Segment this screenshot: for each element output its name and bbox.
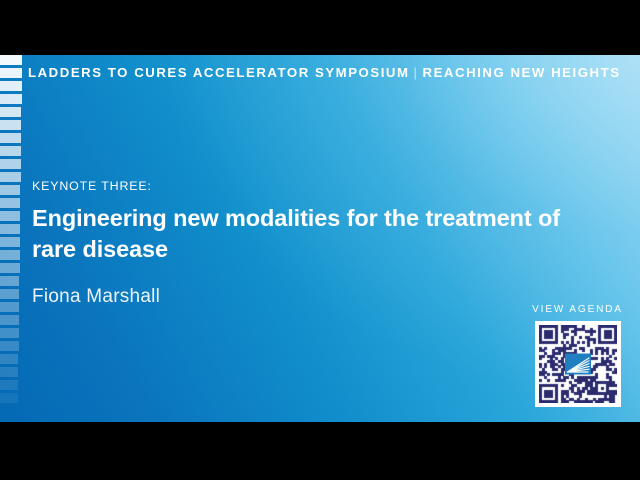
ladder-rung [0,315,19,325]
ladder-rung [0,237,20,247]
ladder-rung [0,94,22,104]
ladder-rung [0,393,18,403]
talk-title: Engineering new modalities for the treat… [32,203,562,264]
ladder-rung [0,367,18,377]
ladder-rung [0,289,19,299]
ladder-rung [0,354,18,364]
letterbox-top [0,0,640,55]
header-divider: | [410,65,423,80]
slide-header-band: LADDERS TO CURES ACCELERATOR SYMPOSIUM|R… [0,55,640,91]
ladder-rung [0,159,21,169]
ladder-rung [0,211,20,221]
ladder-rung [0,263,20,273]
ladder-rung [0,133,21,143]
view-agenda-qr-block[interactable]: VIEW AGENDA [532,305,623,407]
view-agenda-label: VIEW AGENDA [532,305,623,315]
novartis-fan-logo-icon [565,354,591,375]
speaker-name: Fiona Marshall [32,287,572,306]
keynote-eyebrow: KEYNOTE THREE: [32,180,572,192]
qr-code[interactable] [535,321,621,407]
ladder-rungs-decoration [0,55,26,422]
letterbox-bottom [0,422,640,480]
ladder-rung [0,276,19,286]
ladder-rung [0,380,18,390]
ladder-rung [0,185,20,195]
ladder-rung [0,172,21,182]
ladder-rung [0,107,21,117]
presentation-slide: LADDERS TO CURES ACCELERATOR SYMPOSIUM|R… [0,55,640,422]
ladder-rung [0,146,21,156]
ladder-rung [0,198,20,208]
event-title: LADDERS TO CURES ACCELERATOR SYMPOSIUM|R… [28,66,621,79]
ladder-rung [0,302,19,312]
event-name: LADDERS TO CURES ACCELERATOR SYMPOSIUM [28,65,410,80]
ladder-rung [0,250,20,260]
ladder-rung [0,341,19,351]
ladder-rung [0,328,19,338]
ladder-rung [0,224,20,234]
video-frame: LADDERS TO CURES ACCELERATOR SYMPOSIUM|R… [0,0,640,480]
ladder-rung [0,120,21,130]
event-tagline: REACHING NEW HEIGHTS [423,65,621,80]
slide-text-block: KEYNOTE THREE: Engineering new modalitie… [32,180,572,306]
